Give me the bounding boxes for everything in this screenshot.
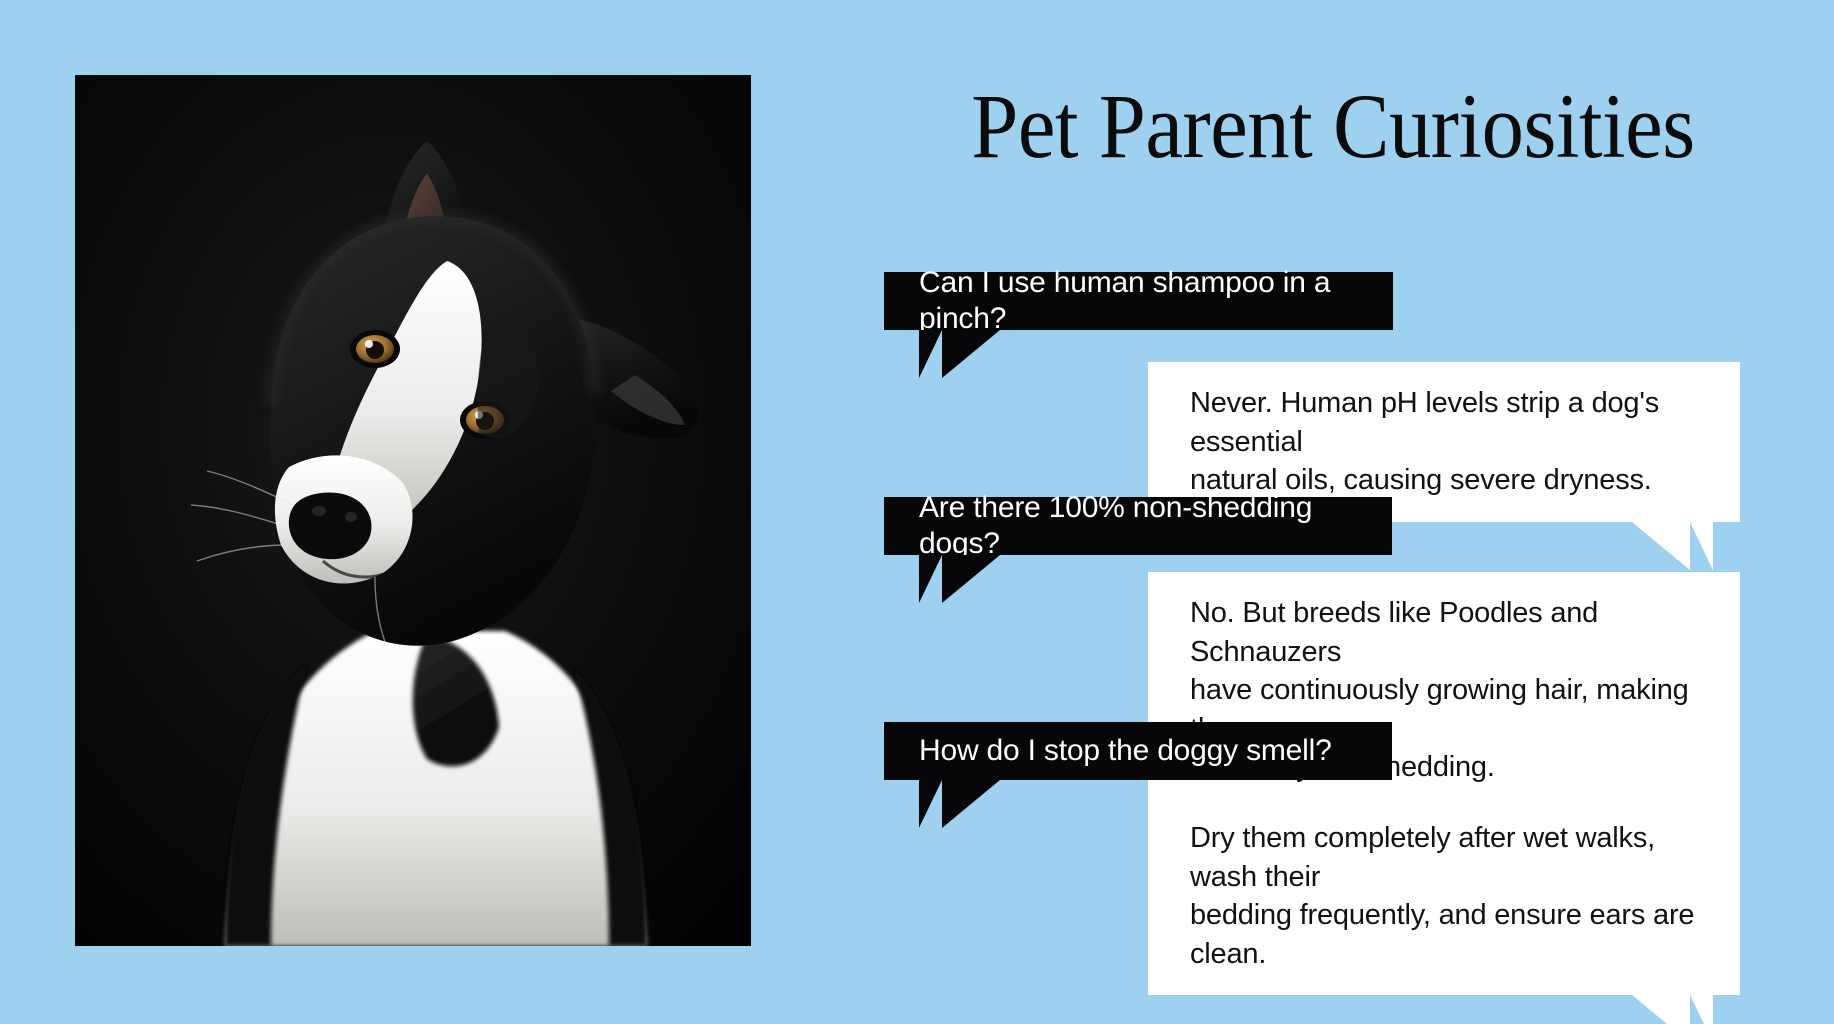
question-text-1: Can I use human shampoo in a pinch? [919, 265, 1369, 337]
answer-bubble-3[interactable]: Dry them completely after wet walks, was… [1148, 797, 1740, 995]
question-bubble-1[interactable]: Can I use human shampoo in a pinch? [884, 272, 1393, 330]
question-tail-2 [919, 555, 942, 603]
question-text-2: Are there 100% non-shedding dogs? [919, 490, 1368, 562]
answer-bubble-3-body: Dry them completely after wet walks, was… [1148, 797, 1740, 995]
answer-tail-1 [1690, 522, 1713, 570]
qa-list: Can I use human shampoo in a pinch? Neve… [0, 0, 1834, 1024]
question-bubble-1-body: Can I use human shampoo in a pinch? [884, 272, 1393, 330]
answer-line: Dry them completely after wet walks, was… [1190, 819, 1700, 896]
question-bubble-3-body: How do I stop the doggy smell? [884, 722, 1392, 780]
answer-text-1: Never. Human pH levels strip a dog's ess… [1190, 384, 1700, 500]
answer-text-3: Dry them completely after wet walks, was… [1190, 819, 1700, 973]
question-tail-3 [919, 780, 942, 828]
question-bubble-3[interactable]: How do I stop the doggy smell? [884, 722, 1392, 780]
question-bubble-2[interactable]: Are there 100% non-shedding dogs? [884, 497, 1392, 555]
question-bubble-2-body: Are there 100% non-shedding dogs? [884, 497, 1392, 555]
question-text-3: How do I stop the doggy smell? [919, 733, 1332, 769]
slide-root: Pet Parent Curiosities Can I use human s… [0, 0, 1834, 1024]
answer-line: No. But breeds like Poodles and Schnauze… [1190, 594, 1700, 671]
answer-line: Never. Human pH levels strip a dog's ess… [1190, 384, 1700, 461]
question-tail-1 [919, 330, 942, 378]
answer-line: bedding frequently, and ensure ears are … [1190, 896, 1700, 973]
answer-tail-3 [1690, 995, 1713, 1024]
